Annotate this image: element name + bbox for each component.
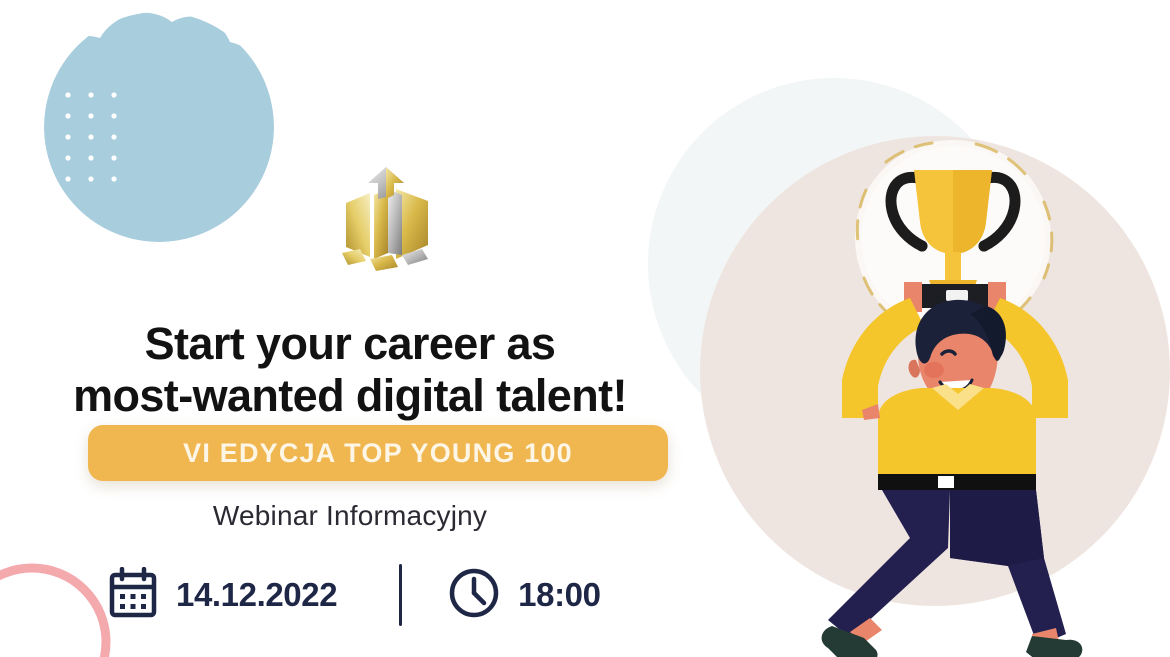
event-time-value: 18:00 — [518, 576, 600, 614]
edition-badge-label: VI EDYCJA TOP YOUNG 100 — [183, 438, 573, 469]
cheek-blush — [924, 362, 944, 378]
right-shoe — [1026, 636, 1082, 657]
top-young-100-logo — [330, 165, 434, 277]
event-date-value: 14.12.2022 — [176, 576, 337, 614]
headline-line-2: most-wanted digital talent! — [0, 370, 700, 422]
event-meta-row: 14.12.2022 18:00 — [108, 560, 608, 630]
webinar-promo-banner: Start your career as most-wanted digital… — [0, 0, 1170, 657]
person-holding-trophy-illustration — [700, 118, 1170, 657]
clock-icon — [448, 567, 500, 624]
left-leg — [828, 490, 950, 638]
headline: Start your career as most-wanted digital… — [0, 318, 700, 422]
belt — [878, 474, 1036, 490]
content-column: Start your career as most-wanted digital… — [0, 0, 700, 657]
event-time: 18:00 — [448, 567, 600, 624]
belt-buckle — [938, 476, 954, 488]
calendar-icon — [108, 567, 158, 624]
event-date: 14.12.2022 — [108, 567, 337, 624]
headline-line-1: Start your career as — [0, 318, 700, 370]
subtitle: Webinar Informacyjny — [0, 500, 700, 532]
edition-badge[interactable]: VI EDYCJA TOP YOUNG 100 — [88, 425, 668, 481]
meta-divider — [399, 564, 402, 626]
